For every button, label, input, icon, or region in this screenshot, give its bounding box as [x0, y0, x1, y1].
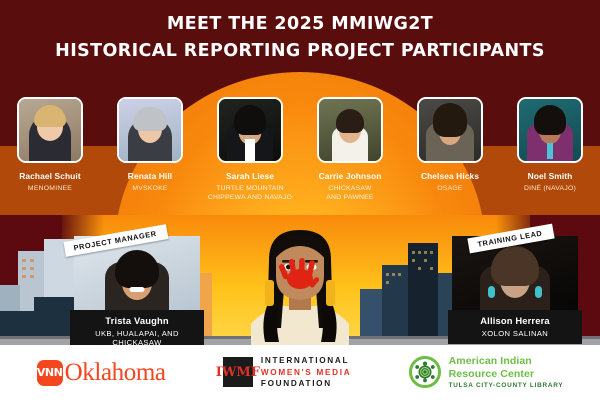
iwmf-mark-letters: IWMF [216, 366, 260, 379]
iwmf-line-3: FOUNDATION [261, 378, 351, 390]
participant-tribe: TURTLE MOUNTAIN CHIPPEWA AND NAVAJO [208, 185, 292, 203]
participant-1: Renata Hill MVSKOKE [100, 97, 200, 217]
logo-american-indian-resource-center: American Indian Resource Center TULSA CI… [409, 355, 564, 389]
participant-0: Rachael Schuit MENOMINEE [0, 97, 100, 217]
participant-3: Carrie Johnson CHICKASAW AND PAWNEE [300, 97, 400, 217]
indigenous-woman-illustration [243, 224, 357, 345]
airc-wordmark: American Indian Resource Center TULSA CI… [449, 355, 564, 389]
iwmf-mark-icon: IWMF [223, 357, 253, 387]
participant-photo [217, 97, 283, 163]
participant-tribe: DINÉ (NAVAJO) [524, 185, 576, 194]
participant-name: Sarah Liese [226, 172, 274, 182]
logo-vnn-oklahoma: VNN Oklahoma [37, 359, 166, 387]
sponsor-logo-footer: VNN Oklahoma IWMF INTERNATIONAL WOMEN'S … [0, 345, 600, 400]
mmiwg2t-participants-poster: MEET THE 2025 MMIWG2T HISTORICAL REPORTI… [0, 0, 600, 400]
logo-iwmf: IWMF INTERNATIONAL WOMEN'S MEDIA FOUNDAT… [223, 355, 351, 390]
participant-2: Sarah Liese TURTLE MOUNTAIN CHIPPEWA AND… [200, 97, 300, 217]
participant-name: Rachael Schuit [19, 172, 80, 182]
poster-title: MEET THE 2025 MMIWG2T HISTORICAL REPORTI… [0, 14, 600, 61]
participant-tribe: OSAGE [437, 185, 462, 194]
title-line-2: HISTORICAL REPORTING PROJECT PARTICIPANT… [0, 41, 600, 61]
participant-photo [417, 97, 483, 163]
iwmf-wordmark: INTERNATIONAL WOMEN'S MEDIA FOUNDATION [261, 355, 351, 390]
feature-tribe: XOLON SALINAN [452, 329, 578, 338]
airc-line-1: American Indian [449, 355, 564, 367]
iwmf-line-2: WOMEN'S MEDIA [261, 367, 351, 379]
participant-photo [117, 97, 183, 163]
feature-name: Allison Herrera [452, 315, 578, 326]
participant-name: Chelsea Hicks [421, 172, 479, 182]
participant-name: Carrie Johnson [319, 172, 382, 182]
participant-photo [17, 97, 83, 163]
participant-name: Noel Smith [528, 172, 573, 182]
feature-card-project-manager: Trista Vaughn UKB, HUALAPAI, AND CHICKAS… [74, 236, 200, 353]
participant-tribe: MENOMINEE [28, 185, 72, 194]
airc-line-2: Resource Center [449, 368, 564, 380]
iwmf-line-1: INTERNATIONAL [261, 355, 351, 367]
participant-photo [317, 97, 383, 163]
feature-name: Trista Vaughn [74, 315, 200, 326]
participant-photo [517, 97, 583, 163]
title-line-1: MEET THE 2025 MMIWG2T [0, 14, 600, 34]
participant-tribe: CHICKASAW AND PAWNEE [326, 185, 373, 203]
participant-headshot-row: Rachael Schuit MENOMINEE Renata Hill MVS… [0, 97, 600, 217]
airc-line-3: TULSA CITY-COUNTY LIBRARY [449, 382, 564, 390]
airc-turtle-emblem-icon [409, 356, 441, 388]
vnn-wordmark: Oklahoma [65, 359, 166, 387]
vnn-mark-icon: VNN [37, 360, 63, 386]
participant-5: Noel Smith DINÉ (NAVAJO) [500, 97, 600, 217]
feature-name-plate: Allison Herrera XOLON SALINAN [448, 310, 582, 344]
participant-name: Renata Hill [128, 172, 172, 182]
participant-4: Chelsea Hicks OSAGE [400, 97, 500, 217]
participant-tribe: MVSKOKE [132, 185, 167, 194]
